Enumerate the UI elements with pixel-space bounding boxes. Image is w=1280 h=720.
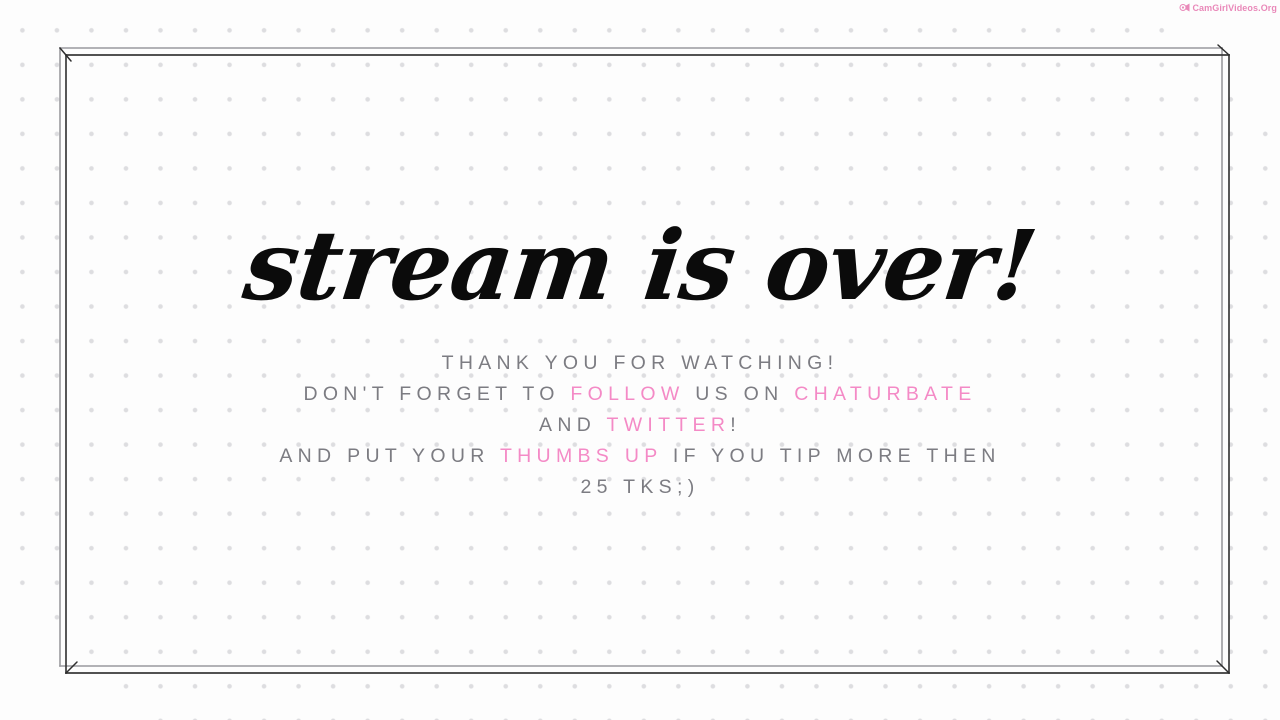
body-line-2: DON'T FORGET TO FOLLOW US ON CHATURBATE [0, 379, 1280, 410]
page-title: stream is over! [0, 218, 1280, 314]
chaturbate-highlight: CHATURBATE [794, 383, 976, 405]
body-line-3: AND TWITTER! [0, 410, 1280, 441]
camera-logo-icon [1179, 2, 1190, 13]
watermark-text: CamGirlVideos.Org [1192, 3, 1277, 13]
dont-forget-prefix: DON'T FORGET TO [303, 383, 570, 405]
tokens-amount-text: 25 TKS;) [581, 476, 700, 498]
and-prefix: AND [539, 414, 606, 436]
put-your-prefix: AND PUT YOUR [279, 445, 500, 467]
body-line-4: AND PUT YOUR THUMBS UP IF YOU TIP MORE T… [0, 441, 1280, 472]
twitter-suffix: ! [730, 414, 741, 436]
body-line-5: 25 TKS;) [0, 472, 1280, 503]
body-line-1: THANK YOU FOR WATCHING! [0, 348, 1280, 379]
twitter-highlight: TWITTER [606, 414, 730, 436]
body-copy: THANK YOU FOR WATCHING! DON'T FORGET TO … [0, 348, 1280, 503]
follow-highlight: FOLLOW [570, 383, 684, 405]
us-on-text: US ON [685, 383, 795, 405]
outro-card: stream is over! THANK YOU FOR WATCHING! … [0, 0, 1280, 720]
watermark: CamGirlVideos.Org [1179, 2, 1277, 13]
thank-you-text: THANK YOU FOR WATCHING! [442, 352, 839, 374]
thumbs-up-highlight: THUMBS UP [500, 445, 662, 467]
tip-more-then-text: IF YOU TIP MORE THEN [662, 445, 1000, 467]
